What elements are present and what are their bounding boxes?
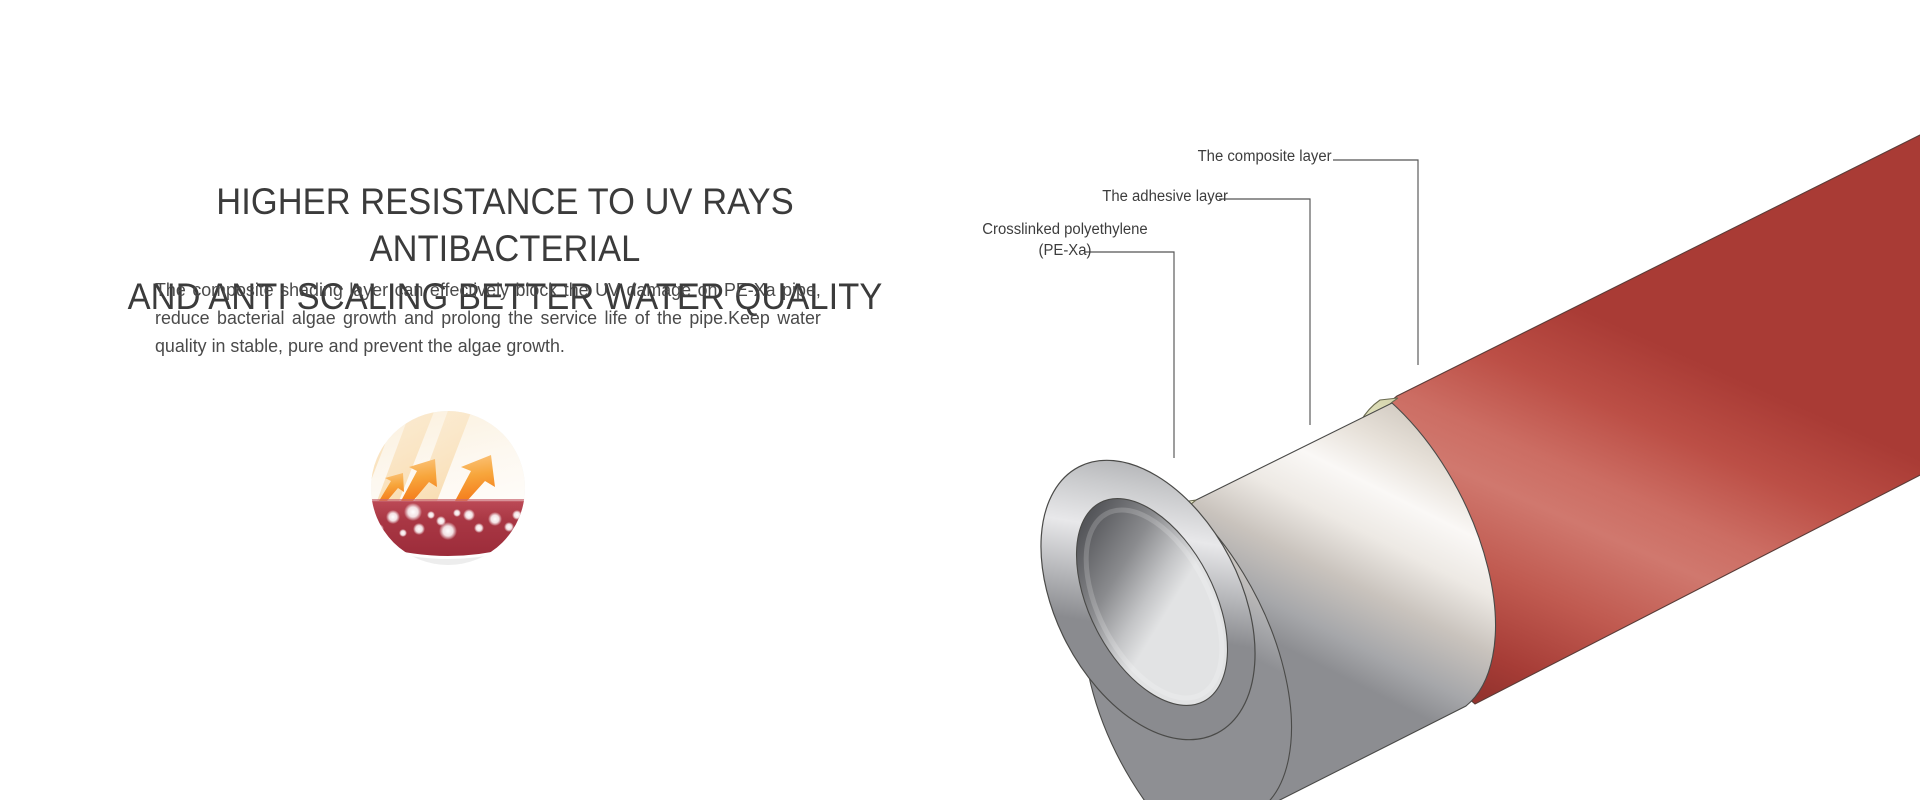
leader-line-composite — [1333, 160, 1418, 365]
feature-slide: HIGHER RESISTANCE TO UV RAYS ANTIBACTERI… — [0, 0, 1920, 800]
pexa-near-body — [1083, 505, 1291, 800]
callout-label-adhesive: The adhesive layer — [1102, 187, 1228, 208]
pipe-geometry — [997, 60, 1920, 800]
pipe-bore-highlight — [1058, 488, 1250, 720]
composite-layer-body — [1365, 130, 1920, 704]
leader-line-pexa — [1085, 252, 1174, 458]
pipe-specular-highlight — [1170, 60, 1920, 470]
pipe-illustration — [0, 0, 1920, 800]
callout-label-composite: The composite layer — [1198, 147, 1332, 168]
leader-line-adhesive — [1219, 199, 1310, 425]
body-paragraph: The composite shading layer can effectiv… — [155, 276, 821, 360]
callout-label-pexa: Crosslinked polyethylene (PE-Xa) — [976, 220, 1155, 262]
pexa-middle-body — [1163, 403, 1495, 800]
adhesive-band-inner — [1146, 500, 1268, 800]
pipe-end-outer-rim — [997, 424, 1299, 775]
text-column: HIGHER RESISTANCE TO UV RAYS ANTIBACTERI… — [90, 178, 930, 320]
pipe-bore — [1045, 474, 1258, 730]
adhesive-band-outer — [1347, 398, 1470, 710]
uv-block-icon — [357, 397, 539, 579]
